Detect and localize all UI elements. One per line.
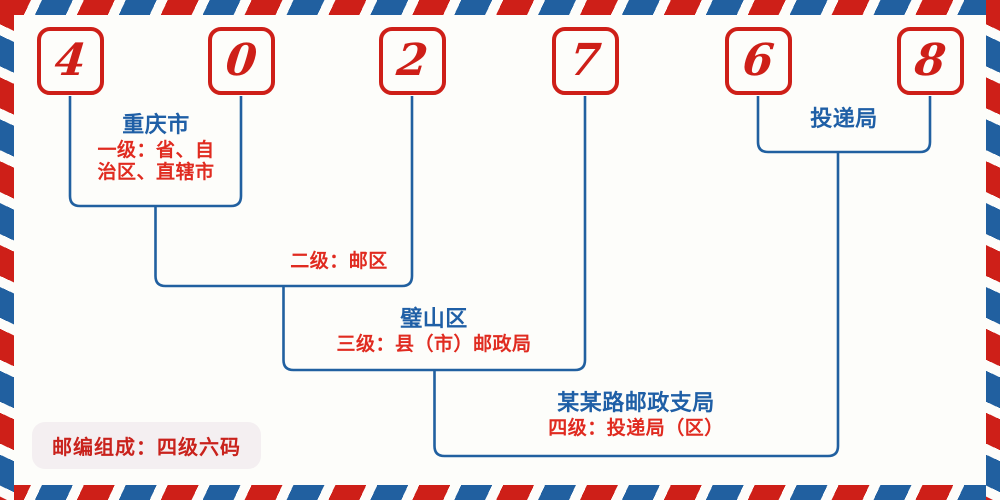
postcode-digit-4[interactable]: 6 bbox=[725, 27, 792, 95]
level-2-subtitle: 二级：邮区 bbox=[184, 250, 494, 272]
airmail-border-right bbox=[986, 0, 1000, 500]
digit-glyph: 6 bbox=[741, 39, 776, 83]
postcode-digit-1[interactable]: 0 bbox=[208, 27, 275, 95]
digit-glyph: 8 bbox=[913, 39, 948, 83]
delivery-office-title: 投递局 bbox=[763, 107, 925, 133]
level-1-subtitle-line-1: 一级：省、自 bbox=[81, 139, 231, 161]
airmail-border-bottom bbox=[0, 485, 1000, 500]
digit-glyph: 7 bbox=[568, 39, 603, 83]
digit-glyph: 4 bbox=[53, 39, 88, 83]
envelope-canvas: 4 0 2 7 6 8 重庆市 一级：省、自 治区、直辖市 二级：邮区 璧山区 … bbox=[0, 0, 1000, 500]
airmail-border-top bbox=[0, 0, 1000, 15]
level-1-label: 重庆市 一级：省、自 治区、直辖市 bbox=[81, 113, 231, 184]
delivery-office-label: 投递局 bbox=[763, 107, 925, 133]
level-4-subtitle: 四级：投递局（区） bbox=[440, 417, 832, 439]
legend-text: 邮编组成：四级六码 bbox=[52, 435, 241, 459]
postcode-digit-5[interactable]: 8 bbox=[897, 27, 964, 95]
level-4-title: 某某路邮政支局 bbox=[440, 391, 832, 417]
airmail-border-left bbox=[0, 0, 14, 500]
digit-glyph: 2 bbox=[395, 39, 430, 83]
level-3-title: 璧山区 bbox=[288, 307, 580, 333]
level-3-label: 璧山区 三级：县（市）邮政局 bbox=[288, 307, 580, 355]
legend-badge: 邮编组成：四级六码 bbox=[32, 422, 261, 469]
level-1-subtitle-line-2: 治区、直辖市 bbox=[81, 161, 231, 183]
postcode-digit-3[interactable]: 7 bbox=[552, 27, 619, 95]
level-3-subtitle: 三级：县（市）邮政局 bbox=[288, 333, 580, 355]
digit-glyph: 0 bbox=[224, 39, 259, 83]
postcode-digit-0[interactable]: 4 bbox=[37, 27, 104, 95]
level-1-title: 重庆市 bbox=[81, 113, 231, 139]
level-4-label: 某某路邮政支局 四级：投递局（区） bbox=[440, 391, 832, 439]
postcode-digit-2[interactable]: 2 bbox=[379, 27, 446, 95]
level-2-label: 二级：邮区 bbox=[184, 250, 494, 272]
